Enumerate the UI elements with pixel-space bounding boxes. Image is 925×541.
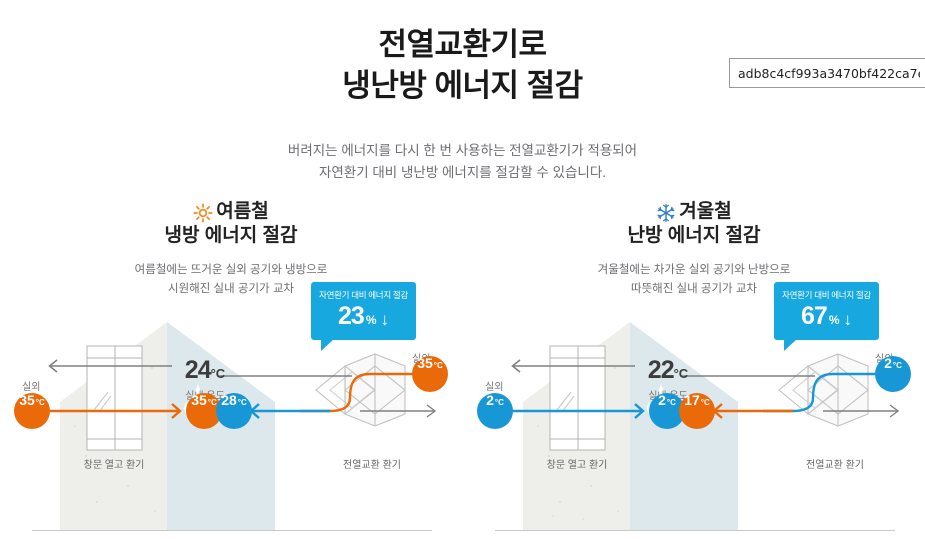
house-right-half <box>167 322 275 530</box>
summer-heading: 냉방 에너지 절감 <box>0 224 462 249</box>
winter-callout-unit: % <box>829 314 840 326</box>
summer-indoor-unit: °C <box>211 366 226 381</box>
summer-temp-exchanger-supply: 28°C <box>216 393 252 429</box>
heat-exchanger-graphic <box>779 354 868 426</box>
temp-unit: °C <box>701 399 710 407</box>
temp-value: 2 <box>658 393 666 407</box>
temp-value: 35 <box>19 393 35 407</box>
panel-winter: 겨울철 난방 에너지 절감 겨울철에는 차가운 실외 공기와 난방으로 따뜻해진… <box>463 200 925 536</box>
temp-unit: °C <box>434 362 443 370</box>
summer-callout-value-row: 23 % ↓ <box>311 304 416 329</box>
winter-savings-callout: 자연환기 대비 에너지 절감 67 % ↓ <box>774 282 879 340</box>
sun-icon <box>193 203 213 223</box>
temp-unit: °C <box>495 399 504 407</box>
temp-unit: °C <box>208 399 217 407</box>
winter-heading: 난방 에너지 절감 <box>463 224 925 249</box>
winter-diagram: 22°C 실내 온도 실외 실외 2°C 2°C 17°C 2°C 창문 열고 … <box>463 306 925 536</box>
summer-window-caption: 창문 열고 환기 <box>84 456 145 471</box>
winter-season-label: 겨울철 <box>679 200 731 223</box>
summer-diagram: 24°C 실내 온도 실외 실외 35°C 35°C 28°C 35°C 창문 … <box>0 306 462 536</box>
temp-value: 28 <box>221 393 237 407</box>
page-subtitle: 버려지는 에너지를 다시 한 번 사용하는 전열교환기가 적용되어 자연환기 대… <box>0 140 925 184</box>
summer-indoor-value: 24 <box>185 356 211 384</box>
summer-outdoor-label-left: 실외 <box>22 378 40 393</box>
winter-callout-value: 67 <box>801 304 827 329</box>
summer-temp-exchanger-intake: 35°C <box>412 356 448 392</box>
winter-indoor-unit: °C <box>674 366 689 381</box>
callout-tail <box>784 339 797 351</box>
summer-callout-caption: 자연환기 대비 에너지 절감 <box>311 282 416 300</box>
winter-outdoor-label-left: 실외 <box>485 378 503 393</box>
summer-season-row: 여름철 <box>0 200 462 223</box>
summer-callout-value: 23 <box>338 304 364 329</box>
panel-summer: 여름철 냉방 에너지 절감 여름철에는 뜨거운 실외 공기와 냉방으로 시원해진… <box>0 200 462 536</box>
temp-value: 35 <box>191 393 207 407</box>
heat-exchanger-graphic <box>316 354 405 426</box>
down-arrow-icon: ↓ <box>843 311 852 328</box>
winter-window-caption: 창문 열고 환기 <box>547 456 608 471</box>
summer-savings-callout: 자연환기 대비 에너지 절감 23 % ↓ <box>311 282 416 340</box>
temp-value: 35 <box>417 356 433 370</box>
hash-input[interactable] <box>729 58 925 88</box>
temp-unit: °C <box>893 362 902 370</box>
subtitle-line-2: 자연환기 대비 냉난방 에너지를 절감할 수 있습니다. <box>0 162 925 184</box>
winter-desc-line-2: 따뜻해진 실내 공기가 교차 <box>631 283 757 295</box>
temp-value: 2 <box>486 393 494 407</box>
house-right-half <box>630 322 738 530</box>
summer-desc-line-1: 여름철에는 뜨거운 실외 공기와 냉방으로 <box>135 264 328 276</box>
winter-callout-value-row: 67 % ↓ <box>774 304 879 329</box>
temp-unit: °C <box>36 399 45 407</box>
temp-value: 17 <box>684 393 700 407</box>
winter-indoor-value: 22 <box>648 356 674 384</box>
summer-callout-unit: % <box>366 314 377 326</box>
temp-unit: °C <box>667 399 676 407</box>
winter-temp-exchanger-intake: 2°C <box>875 356 911 392</box>
window-graphic <box>87 346 142 450</box>
winter-callout-caption: 자연환기 대비 에너지 절감 <box>774 282 879 300</box>
infographic-page: 전열교환기로 냉난방 에너지 절감 버려지는 에너지를 다시 한 번 사용하는 … <box>0 0 925 536</box>
summer-desc-line-2: 시원해진 실내 공기가 교차 <box>168 283 294 295</box>
summer-temp-window-outer: 35°C <box>14 393 50 429</box>
subtitle-line-1: 버려지는 에너지를 다시 한 번 사용하는 전열교환기가 적용되어 <box>288 143 637 158</box>
winter-temp-exchanger-supply: 17°C <box>679 393 715 429</box>
summer-season-label: 여름철 <box>216 200 268 223</box>
temp-unit: °C <box>238 399 247 407</box>
snowflake-icon <box>656 203 676 223</box>
window-graphic <box>550 346 605 450</box>
winter-exchanger-caption: 전열교환 환기 <box>806 456 864 471</box>
temp-value: 2 <box>884 356 892 370</box>
title-line-1: 전열교환기로 <box>378 27 546 62</box>
winter-temp-window-outer: 2°C <box>477 393 513 429</box>
winter-desc-line-1: 겨울철에는 차가운 실외 공기와 난방으로 <box>598 264 791 276</box>
winter-season-row: 겨울철 <box>463 200 925 223</box>
callout-tail <box>321 339 334 351</box>
down-arrow-icon: ↓ <box>380 311 389 328</box>
summer-exchanger-caption: 전열교환 환기 <box>343 456 401 471</box>
